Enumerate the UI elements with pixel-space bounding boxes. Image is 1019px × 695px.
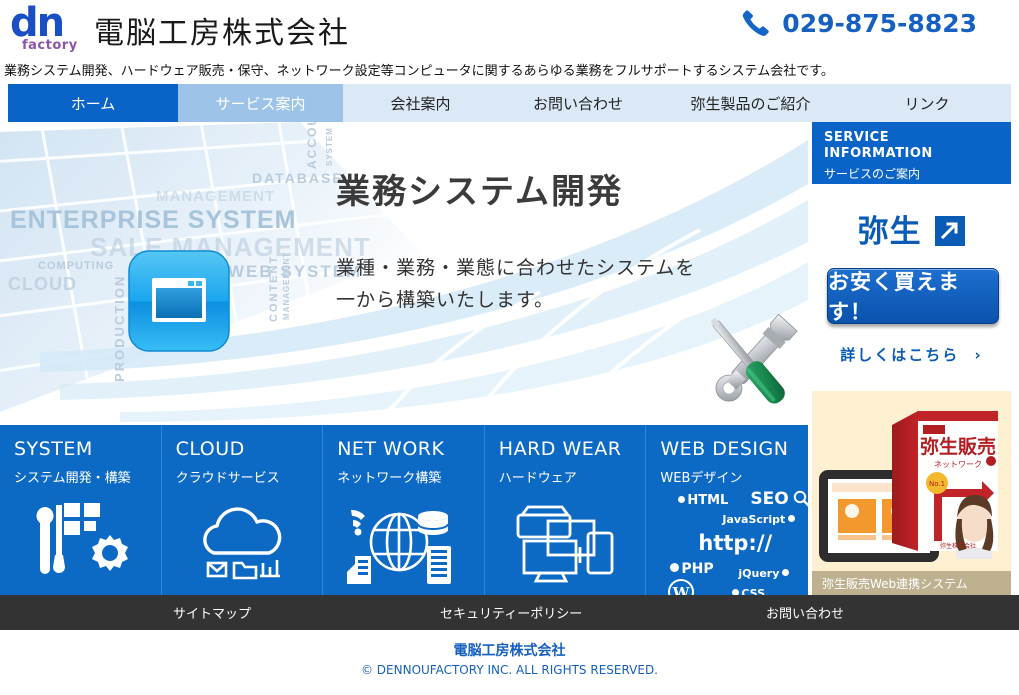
web-tag-php: PHP — [670, 561, 713, 577]
logo-text-dn: dn — [8, 4, 86, 42]
chevron-right-icon: › — [975, 346, 983, 364]
right-sidebar: SERVICE INFORMATION サービスのご案内 弥生 お安く買えます！… — [812, 122, 1011, 595]
bullet-dot — [782, 569, 789, 576]
window-app-icon — [128, 250, 230, 352]
web-tag-seo: SEO — [750, 489, 810, 509]
service-card-webdesign[interactable]: WEB DESIGN WEBデザイン HTML SEO JavaScript h… — [646, 425, 808, 595]
buy-cheap-button[interactable]: お安く買えます！ — [827, 268, 999, 324]
svg-text:弥生販売: 弥生販売 — [920, 435, 996, 458]
footer-company-name: 電脳工房株式会社 — [0, 640, 1019, 660]
service-card-webdesign-title: WEB DESIGN — [660, 438, 788, 460]
sidebar-heading-en-line1: SERVICE — [824, 130, 1001, 146]
service-card-system-title: SYSTEM — [14, 438, 93, 460]
hero-keyword-cloud: CLOUD — [8, 274, 77, 295]
nav-item-service[interactable]: サービス案内 — [178, 84, 343, 122]
sidebar-heading-jp: サービスのご案内 — [824, 165, 1001, 182]
more-details-label: 詳しくはこちら — [840, 346, 959, 364]
service-cards: SYSTEM システム開発・構築 CLO — [0, 425, 808, 595]
svg-text:弥生株式会社: 弥生株式会社 — [940, 542, 976, 550]
globe-network-icon — [323, 495, 484, 590]
service-card-network[interactable]: NET WORK ネットワーク構築 — [323, 425, 485, 595]
nav-item-yayoi-products[interactable]: 弥生製品のご紹介 — [658, 84, 843, 122]
phone-number: 029-875-8823 — [782, 9, 977, 38]
footer-link-security-policy[interactable]: セキュリティーポリシー — [440, 603, 582, 622]
hero-keyword-content: CONTENT — [268, 255, 280, 322]
bullet-dot — [670, 563, 679, 572]
hero-keyword-management-2: MANAGEMENT — [282, 252, 291, 320]
service-card-network-title: NET WORK — [337, 438, 444, 460]
service-card-network-subtitle: ネットワーク構築 — [337, 467, 441, 486]
nav-item-company[interactable]: 会社案内 — [343, 84, 498, 122]
hero-subtitle: 業種・業務・業態に合わせたシステムを 一から構築いたします。 — [336, 252, 695, 316]
nav-item-contact[interactable]: お問い合わせ — [498, 84, 658, 122]
yayoi-product-box: 弥生販売 ネットワーク No.1 弥生株式会社 — [890, 401, 1002, 559]
hero-keyword-computing: COMPUTING — [38, 260, 114, 272]
web-tag-jquery: jQuery — [738, 567, 789, 580]
nav-item-link[interactable]: リンク — [843, 84, 1011, 122]
page-root: dn factory 電脳工房株式会社 029-875-8823 業務システム開… — [0, 0, 1019, 695]
site-tagline: 業務システム開発、ハードウェア販売・保守、ネットワーク設定等コンピュータに関する… — [4, 60, 834, 79]
wrench-screwdriver-icon — [690, 304, 808, 422]
company-name: 電脳工房株式会社 — [94, 8, 350, 52]
bullet-dot — [678, 496, 685, 503]
bullet-dot — [788, 515, 795, 522]
nav-item-home[interactable]: ホーム — [8, 84, 178, 122]
hero-keyword-system: SYSTEM — [325, 127, 334, 166]
yayoi-logo-text: 弥生 — [858, 214, 922, 250]
hero-keyword-database: DATABASE — [252, 170, 344, 186]
footer-copyright: © DENNOUFACTORY INC. ALL RIGHTS RESERVED… — [0, 663, 1019, 677]
svg-text:No.1: No.1 — [929, 480, 945, 488]
hero-keyword-management: MANAGEMENT — [156, 188, 275, 205]
hero-subtitle-line2: 一から構築いたします。 — [336, 284, 695, 316]
web-tag-http: http:// — [698, 531, 772, 555]
sidebar-body: 弥生 お安く買えます！ 詳しくはこちら › — [812, 184, 1011, 391]
service-card-webdesign-subtitle: WEBデザイン — [660, 467, 742, 486]
service-card-system-subtitle: システム開発・構築 — [14, 467, 131, 486]
cloud-icon — [162, 495, 323, 590]
sidebar-header: SERVICE INFORMATION サービスのご案内 — [812, 122, 1011, 184]
web-tags-icon: HTML SEO JavaScript http:// PHP — [646, 487, 808, 595]
svg-text:ネットワーク: ネットワーク — [934, 460, 982, 469]
hero-keyword-accounting: ACCOUNTING — [305, 122, 319, 169]
phone-icon — [740, 8, 770, 38]
footer-link-sitemap[interactable]: サイトマップ — [173, 603, 251, 622]
service-card-hardware-title: HARD WEAR — [499, 438, 622, 460]
hero-subtitle-line1: 業種・業務・業態に合わせたシステムを — [336, 252, 695, 284]
phone-block[interactable]: 029-875-8823 — [740, 8, 977, 38]
promo-caption: 弥生販売Web連携システム — [812, 571, 1011, 595]
footer-links-bar: サイトマップ セキュリティーポリシー お問い合わせ — [0, 595, 1019, 630]
hero-keyword-production: PRODUCTION — [112, 275, 127, 382]
web-tag-javascript: JavaScript — [722, 513, 795, 526]
service-card-hardware[interactable]: HARD WEAR ハードウェア — [485, 425, 647, 595]
service-card-hardware-subtitle: ハードウェア — [499, 467, 577, 486]
hero-title: 業務システム開発 — [336, 164, 623, 213]
main-navigation: ホーム サービス案内 会社案内 お問い合わせ 弥生製品のご紹介 リンク — [8, 84, 1011, 122]
web-tag-html: HTML — [678, 493, 728, 508]
hero-banner[interactable]: DATABASE ACCOUNTING SYSTEM MANAGEMENT EN… — [0, 122, 808, 422]
magnifier-icon — [793, 490, 811, 508]
yayoi-logo[interactable]: 弥生 — [812, 206, 1011, 251]
site-logo[interactable]: dn factory — [8, 4, 86, 54]
service-card-cloud-title: CLOUD — [176, 438, 245, 460]
service-card-cloud[interactable]: CLOUD クラウドサービス — [162, 425, 324, 595]
tools-gear-icon — [0, 495, 161, 590]
logo-text-factory: factory — [22, 38, 78, 53]
promo-panel[interactable]: 弥生販売 ネットワーク No.1 弥生株式会社 弥生販売Web連携システム — [812, 391, 1011, 595]
footer-link-contact[interactable]: お問い合わせ — [766, 603, 844, 622]
service-card-cloud-subtitle: クラウドサービス — [176, 467, 280, 486]
service-card-system[interactable]: SYSTEM システム開発・構築 — [0, 425, 162, 595]
devices-icon — [485, 495, 646, 590]
diagonal-arrow-icon — [935, 216, 965, 246]
hero-keyword-enterprise-system: ENTERPRISE SYSTEM — [10, 206, 297, 235]
more-details-link[interactable]: 詳しくはこちら › — [812, 344, 1011, 365]
sidebar-heading-en-line2: INFORMATION — [824, 146, 1001, 162]
site-header: dn factory 電脳工房株式会社 029-875-8823 — [0, 0, 1019, 60]
